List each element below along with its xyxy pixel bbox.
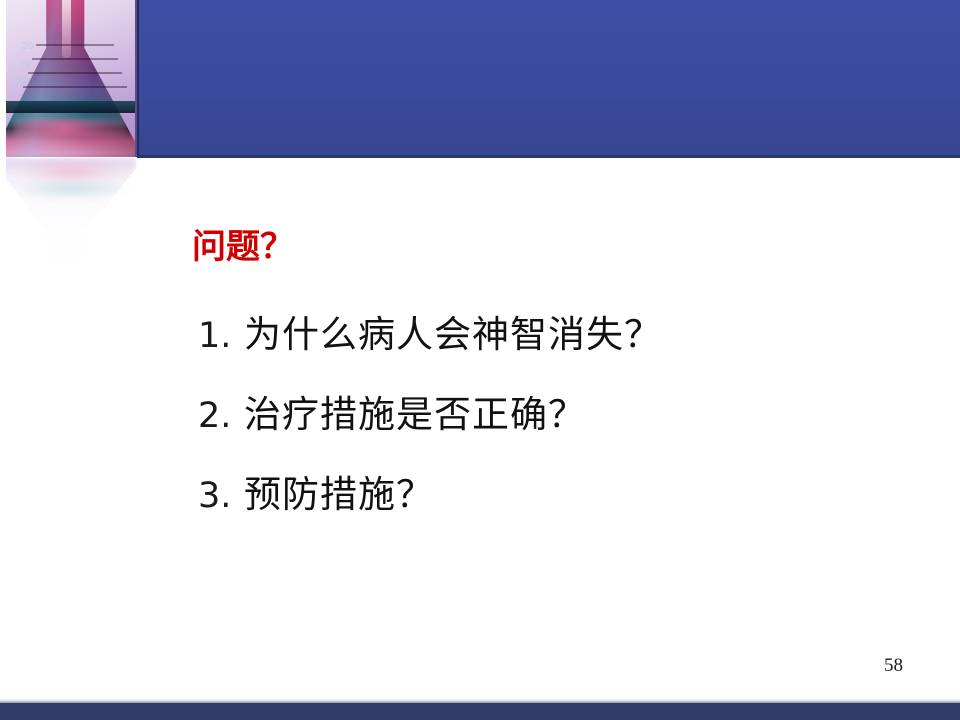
list-item: 3. 预防措施？ [198,464,898,544]
question-list: 1. 为什么病人会神智消失？ 2. 治疗措施是否正确？ 3. 预防措施？ [198,304,898,544]
list-item-label: 预防措施？ [244,464,434,518]
footer-band [0,703,960,720]
page-number: 58 [884,655,903,677]
slide-content: 问题？ 1. 为什么病人会神智消失？ 2. 治疗措施是否正确？ 3. 预防措施？… [0,0,960,720]
list-item: 2. 治疗措施是否正确？ [198,384,898,464]
slide-canvas: 20 15 10 问题？ 1. 为什么病人会神智消失？ 2. 治疗措施是否正确？… [0,0,960,720]
list-item-number: 1. [198,316,244,356]
page-title: 问题？ [192,227,294,269]
list-item-label: 治疗措施是否正确？ [244,384,586,438]
list-item-number: 3. [198,476,244,516]
list-item: 1. 为什么病人会神智消失？ [198,304,898,384]
list-item-label: 为什么病人会神智消失？ [244,304,662,358]
list-item-number: 2. [198,396,244,436]
